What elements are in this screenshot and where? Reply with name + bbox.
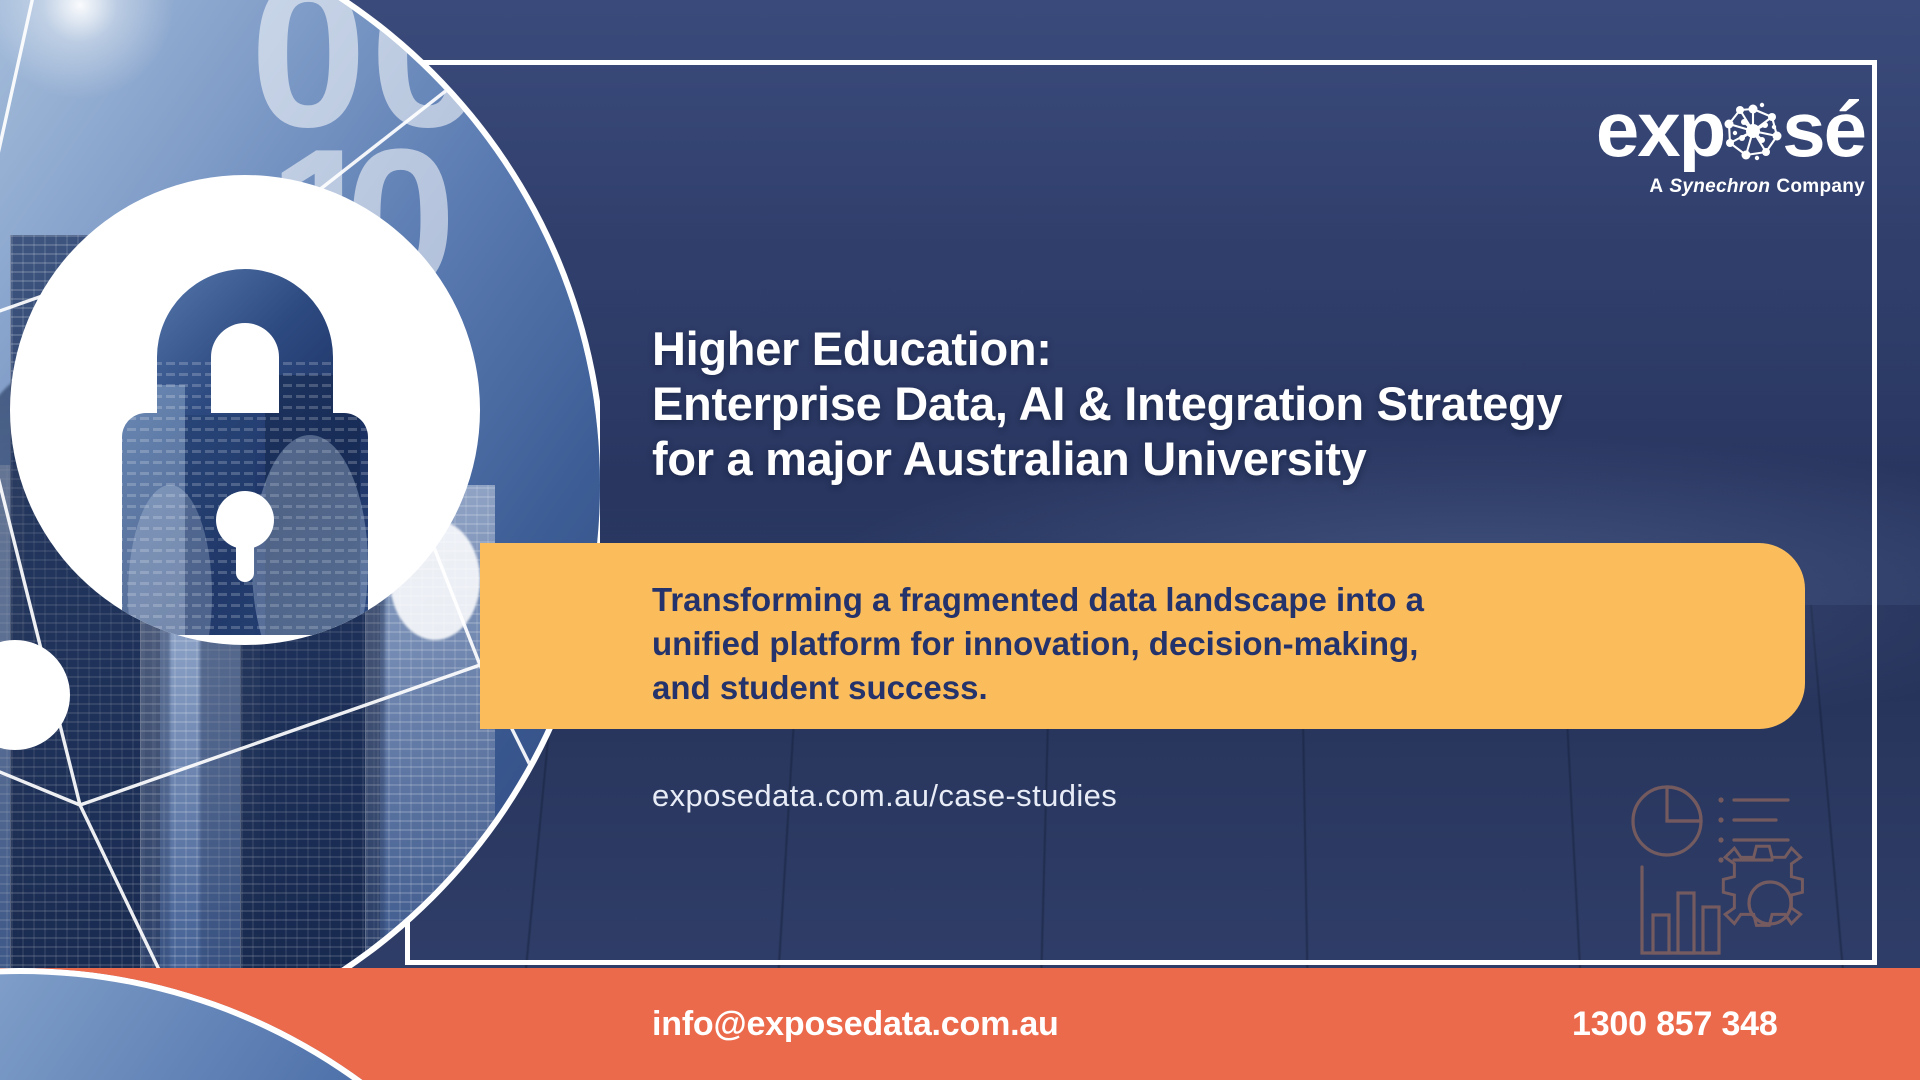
subtitle-text: Transforming a fragmented data landscape… bbox=[652, 578, 1772, 710]
padlock-icon bbox=[10, 175, 480, 645]
subtitle-line-1: Transforming a fragmented data landscape… bbox=[652, 578, 1772, 622]
subtitle-line-2: unified platform for innovation, decisio… bbox=[652, 622, 1772, 666]
expose-logo: exp bbox=[1596, 92, 1865, 198]
logo-letters-before: exp bbox=[1596, 92, 1724, 166]
padlock-badge bbox=[10, 175, 480, 645]
logo-wordmark: exp bbox=[1596, 92, 1865, 166]
case-studies-url[interactable]: exposedata.com.au/case-studies bbox=[652, 778, 1117, 814]
page-title: Higher Education: Enterprise Data, AI & … bbox=[652, 322, 1562, 487]
footer-contacts: info@exposedata.com.au 1300 857 348 bbox=[0, 968, 1920, 1080]
analytics-decoration bbox=[1622, 775, 1832, 960]
pie-chart-icon bbox=[1633, 787, 1701, 855]
tagline-prefix: A bbox=[1649, 176, 1663, 198]
tagline-brand: Synechron bbox=[1669, 176, 1770, 198]
case-study-banner: 0 0 1 0 0 1 0 bbox=[0, 0, 1920, 1080]
headline-line-1: Higher Education: bbox=[652, 322, 1562, 377]
logo-tagline: A Synechron Company bbox=[1596, 176, 1865, 198]
headline-line-3: for a major Australian University bbox=[652, 432, 1562, 487]
contact-phone[interactable]: 1300 857 348 bbox=[1572, 1005, 1778, 1044]
gear-icon bbox=[1723, 846, 1802, 925]
tagline-suffix: Company bbox=[1776, 176, 1865, 198]
contact-email[interactable]: info@exposedata.com.au bbox=[652, 1005, 1059, 1044]
logo-letters-after: sé bbox=[1782, 92, 1865, 166]
network-node-icon bbox=[1722, 98, 1784, 160]
subtitle-line-3: and student success. bbox=[652, 666, 1772, 710]
bar-chart-icon bbox=[1642, 867, 1719, 953]
headline-line-2: Enterprise Data, AI & Integration Strate… bbox=[652, 377, 1562, 432]
